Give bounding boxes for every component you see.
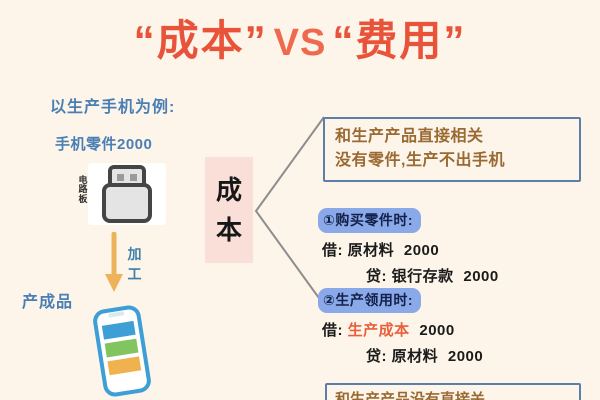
smartphone-icon [86, 305, 158, 397]
title-expense-term: “费用” [332, 17, 466, 64]
parts-cost-text: 手机零件2000 [55, 133, 152, 154]
entry-1-credit-amount: 2000 [458, 268, 498, 285]
entry-2-credit-line: 贷: 原材料 2000 [366, 345, 588, 366]
entry-1-debit-account: 原材料 [348, 242, 395, 259]
entry-1-debit-label: 借: [322, 242, 343, 259]
entry-2-credit-account: 原材料 [392, 348, 439, 365]
entry-1-debit-line: 借: 原材料 2000 [322, 239, 588, 260]
title-cost-term: “成本” [134, 17, 268, 64]
definition-box: 和生产产品直接相关 没有零件,生产不出手机 [323, 117, 581, 182]
entry-2-debit-amount: 2000 [414, 322, 454, 339]
entry-2-debit-label: 借: [322, 322, 343, 339]
expense-definition-line-1: 和生产产品没有直接关 [335, 388, 571, 400]
circuit-board-label: 电路板 [76, 176, 90, 204]
definition-line-2: 没有零件,生产不出手机 [335, 149, 571, 173]
entry-1-credit-account: 银行存款 [392, 268, 454, 285]
page-title: “成本”VS“费用” [0, 18, 600, 65]
finished-product-label: 产成品 [22, 288, 73, 312]
entry-2-badge: ②生产领用时: [318, 288, 421, 313]
expense-definition-box: 和生产产品没有直接关 [325, 383, 581, 400]
bracket-connector-icon [252, 115, 326, 315]
entry-2-debit-line: 借: 生产成本 2000 [322, 319, 588, 340]
definition-line-1: 和生产产品直接相关 [335, 125, 571, 149]
entry-2-credit-label: 贷: [366, 348, 387, 365]
entry-1-credit-label: 贷: [366, 268, 387, 285]
journal-entry-2: ②生产领用时: 借: 生产成本 2000 贷: 原材料 2000 [318, 288, 588, 366]
journal-entry-1: ①购买零件时: 借: 原材料 2000 贷: 银行存款 2000 [318, 208, 588, 286]
entry-1-badge: ①购买零件时: [318, 208, 421, 233]
cost-char-2: 本 [216, 210, 242, 250]
example-intro-text: 以生产手机为例: [50, 93, 175, 117]
process-label: 加工 [126, 244, 143, 285]
entry-1-credit-line: 贷: 银行存款 2000 [366, 265, 588, 286]
entry-2-debit-account: 生产成本 [348, 322, 410, 339]
cost-center-label: 成 本 [205, 157, 253, 263]
title-vs: VS [268, 22, 333, 64]
infographic-page: “成本”VS“费用” 以生产手机为例: 手机零件2000 电路板 加工 产成品 … [0, 0, 600, 400]
entry-2-credit-amount: 2000 [443, 348, 483, 365]
circuit-board-usb-icon [96, 163, 158, 225]
entry-1-debit-amount: 2000 [399, 242, 439, 259]
down-arrow-icon [104, 232, 124, 294]
cost-char-1: 成 [216, 170, 242, 210]
